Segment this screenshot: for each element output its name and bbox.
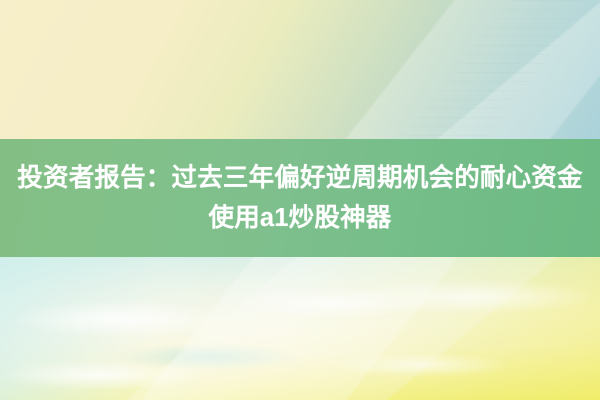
background-gradient-lower-horizontal bbox=[0, 257, 600, 400]
title-band: 投资者报告：过去三年偏好逆周期机会的耐心资金 使用a1炒股神器 bbox=[0, 139, 600, 257]
banner-image: 投资者报告：过去三年偏好逆周期机会的耐心资金 使用a1炒股神器 bbox=[0, 0, 600, 400]
background-gradient-lower bbox=[0, 257, 600, 400]
background-document-texture bbox=[300, 0, 600, 140]
banner-title: 投资者报告：过去三年偏好逆周期机会的耐心资金 使用a1炒股神器 bbox=[6, 158, 594, 238]
background-cloud-wisps bbox=[0, 257, 600, 400]
